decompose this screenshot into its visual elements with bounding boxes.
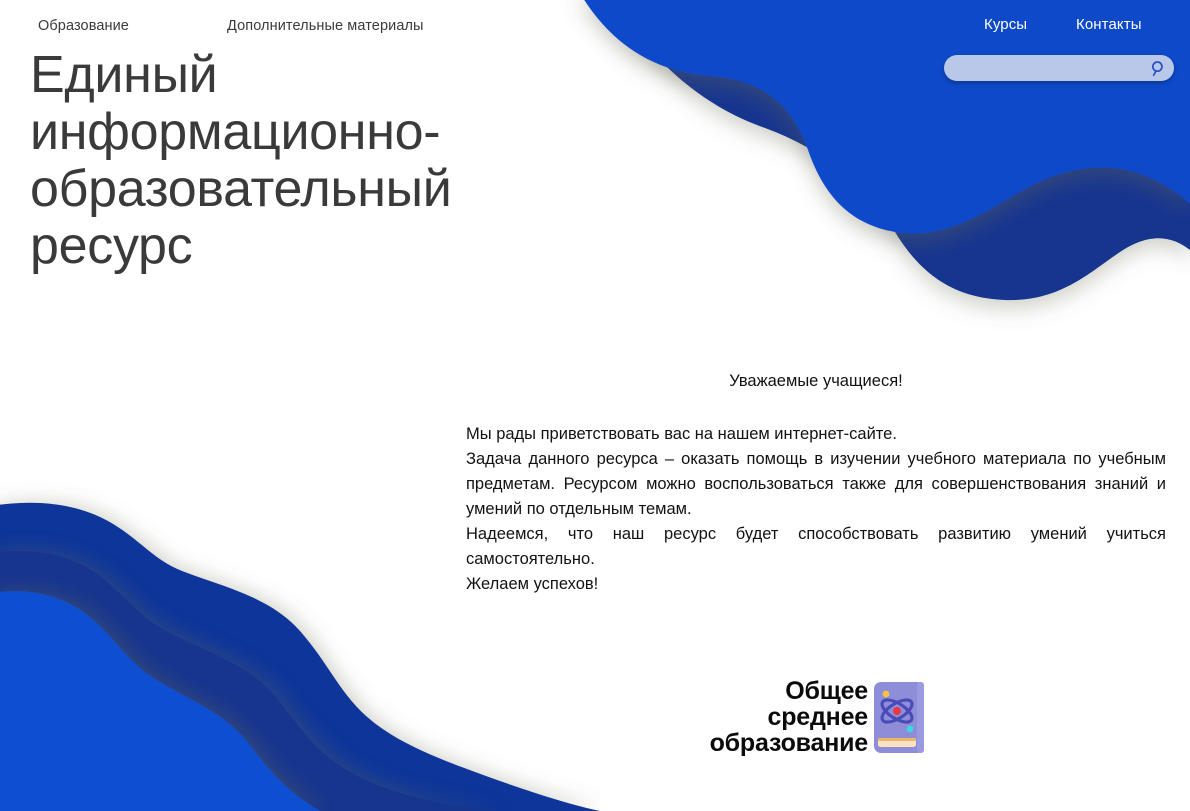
nav-link-courses[interactable]: Курсы: [984, 16, 1027, 34]
logo-line-2: среднее: [710, 704, 868, 730]
main-content: Уважаемые учащиеся! Мы рады приветствова…: [466, 370, 1166, 597]
top-navigation: Образование Дополнительные материалы Кур…: [0, 0, 1190, 96]
logo-line-1: Общее: [710, 678, 868, 704]
search-bar: [944, 55, 1174, 81]
search-input[interactable]: [944, 55, 1174, 81]
intro-paragraph: Мы рады приветствовать вас на нашем инте…: [466, 422, 1166, 597]
nav-link-contacts[interactable]: Контакты: [1076, 16, 1142, 34]
paragraph-line: Желаем успехов!: [466, 572, 1166, 597]
paragraph-line: Задача данного ресурса – оказать помощь …: [466, 447, 1166, 522]
logo[interactable]: Общее среднее образование: [660, 672, 925, 762]
page-root: Образование Дополнительные материалы Кур…: [0, 0, 1190, 811]
greeting-text: Уважаемые учащиеся!: [466, 370, 1166, 392]
nav-link-extra-materials[interactable]: Дополнительные материалы: [227, 17, 424, 35]
logo-line-3: образование: [710, 730, 868, 756]
search-button[interactable]: [1148, 58, 1168, 78]
atom-book-icon: [873, 681, 925, 754]
logo-text: Общее среднее образование: [710, 678, 868, 756]
search-icon: [1150, 60, 1167, 77]
paragraph-line: Мы рады приветствовать вас на нашем инте…: [466, 422, 1166, 447]
paragraph-line: Надеемся, что наш ресурс будет способств…: [466, 522, 1166, 572]
nav-link-education[interactable]: Образование: [38, 17, 129, 35]
